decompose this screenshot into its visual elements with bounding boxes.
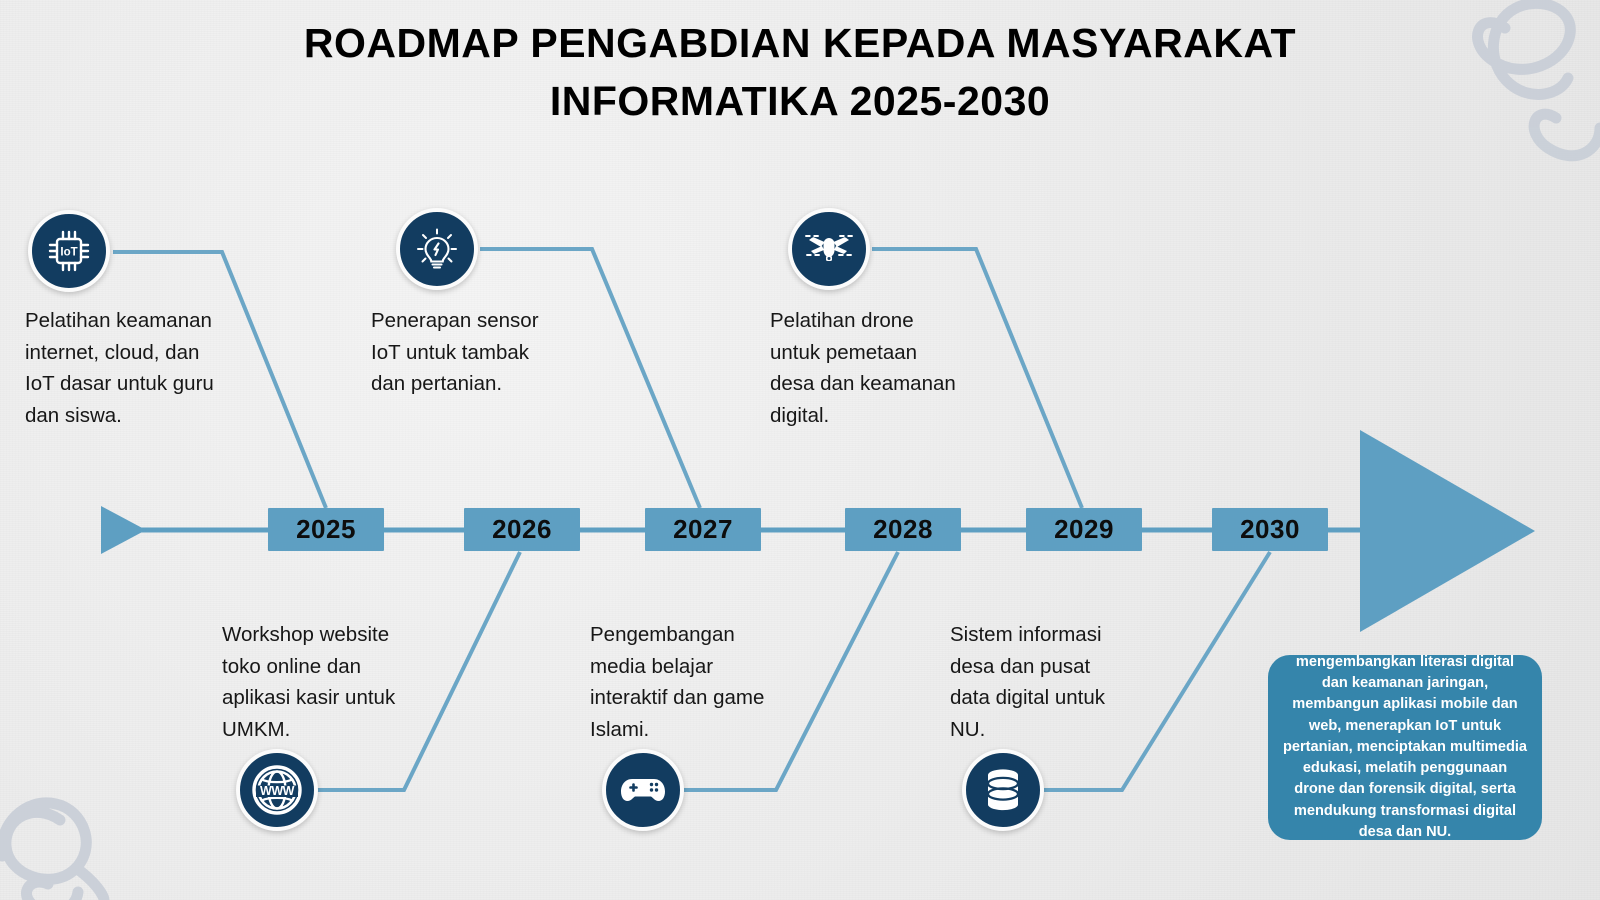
database-glyph — [982, 766, 1024, 814]
drone-icon[interactable] — [788, 208, 870, 290]
milestone-text-2027: Penerapan sensor IoT untuk tambak dan pe… — [371, 305, 581, 400]
year-box-2027[interactable]: 2027 — [645, 508, 761, 551]
milestone-text-2030: Sistem informasi desa dan pusat data dig… — [950, 619, 1165, 745]
milestone-text-2025: Pelatihan keamanan internet, cloud, dan … — [25, 305, 255, 431]
year-box-2026[interactable]: 2026 — [464, 508, 580, 551]
gamepad-glyph — [618, 771, 668, 809]
gamepad-icon[interactable] — [602, 749, 684, 831]
iot-chip-icon[interactable]: IoT — [28, 210, 110, 292]
summary-box: mengembangkan literasi digital dan keama… — [1268, 655, 1542, 840]
year-box-2029[interactable]: 2029 — [1026, 508, 1142, 551]
drone-glyph — [803, 228, 855, 270]
lightbulb-sensor-icon[interactable] — [396, 208, 478, 290]
svg-text:WWW: WWW — [260, 784, 295, 798]
year-box-2030[interactable]: 2030 — [1212, 508, 1328, 551]
left-arrowhead-icon — [101, 506, 146, 554]
www-globe-icon[interactable]: WWW — [236, 749, 318, 831]
www-globe-glyph: WWW — [250, 763, 304, 817]
milestone-text-2028: Pengembangan media belajar interaktif da… — [590, 619, 805, 745]
title-line-2: INFORMATIKA 2025-2030 — [0, 72, 1600, 130]
squiggle-loops-decoration-bottom-left — [2, 803, 104, 900]
database-icon[interactable] — [962, 749, 1044, 831]
title-line-1: ROADMAP PENGABDIAN KEPADA MASYARAKAT — [0, 14, 1600, 72]
year-box-2028[interactable]: 2028 — [845, 508, 961, 551]
iot-chip-glyph: IoT — [45, 227, 93, 275]
year-box-2025[interactable]: 2025 — [268, 508, 384, 551]
lightbulb-sensor-glyph — [413, 225, 461, 273]
svg-text:IoT: IoT — [60, 247, 77, 259]
page-title: ROADMAP PENGABDIAN KEPADA MASYARAKAT INF… — [0, 14, 1600, 130]
roadmap-infographic: ROADMAP PENGABDIAN KEPADA MASYARAKAT INF… — [0, 0, 1600, 900]
milestone-text-2029: Pelatihan drone untuk pemetaan desa dan … — [770, 305, 995, 431]
summary-text: mengembangkan literasi digital dan keama… — [1281, 652, 1529, 844]
milestone-text-2026: Workshop website toko online dan aplikas… — [222, 619, 437, 745]
right-arrowhead-icon — [1360, 430, 1535, 632]
